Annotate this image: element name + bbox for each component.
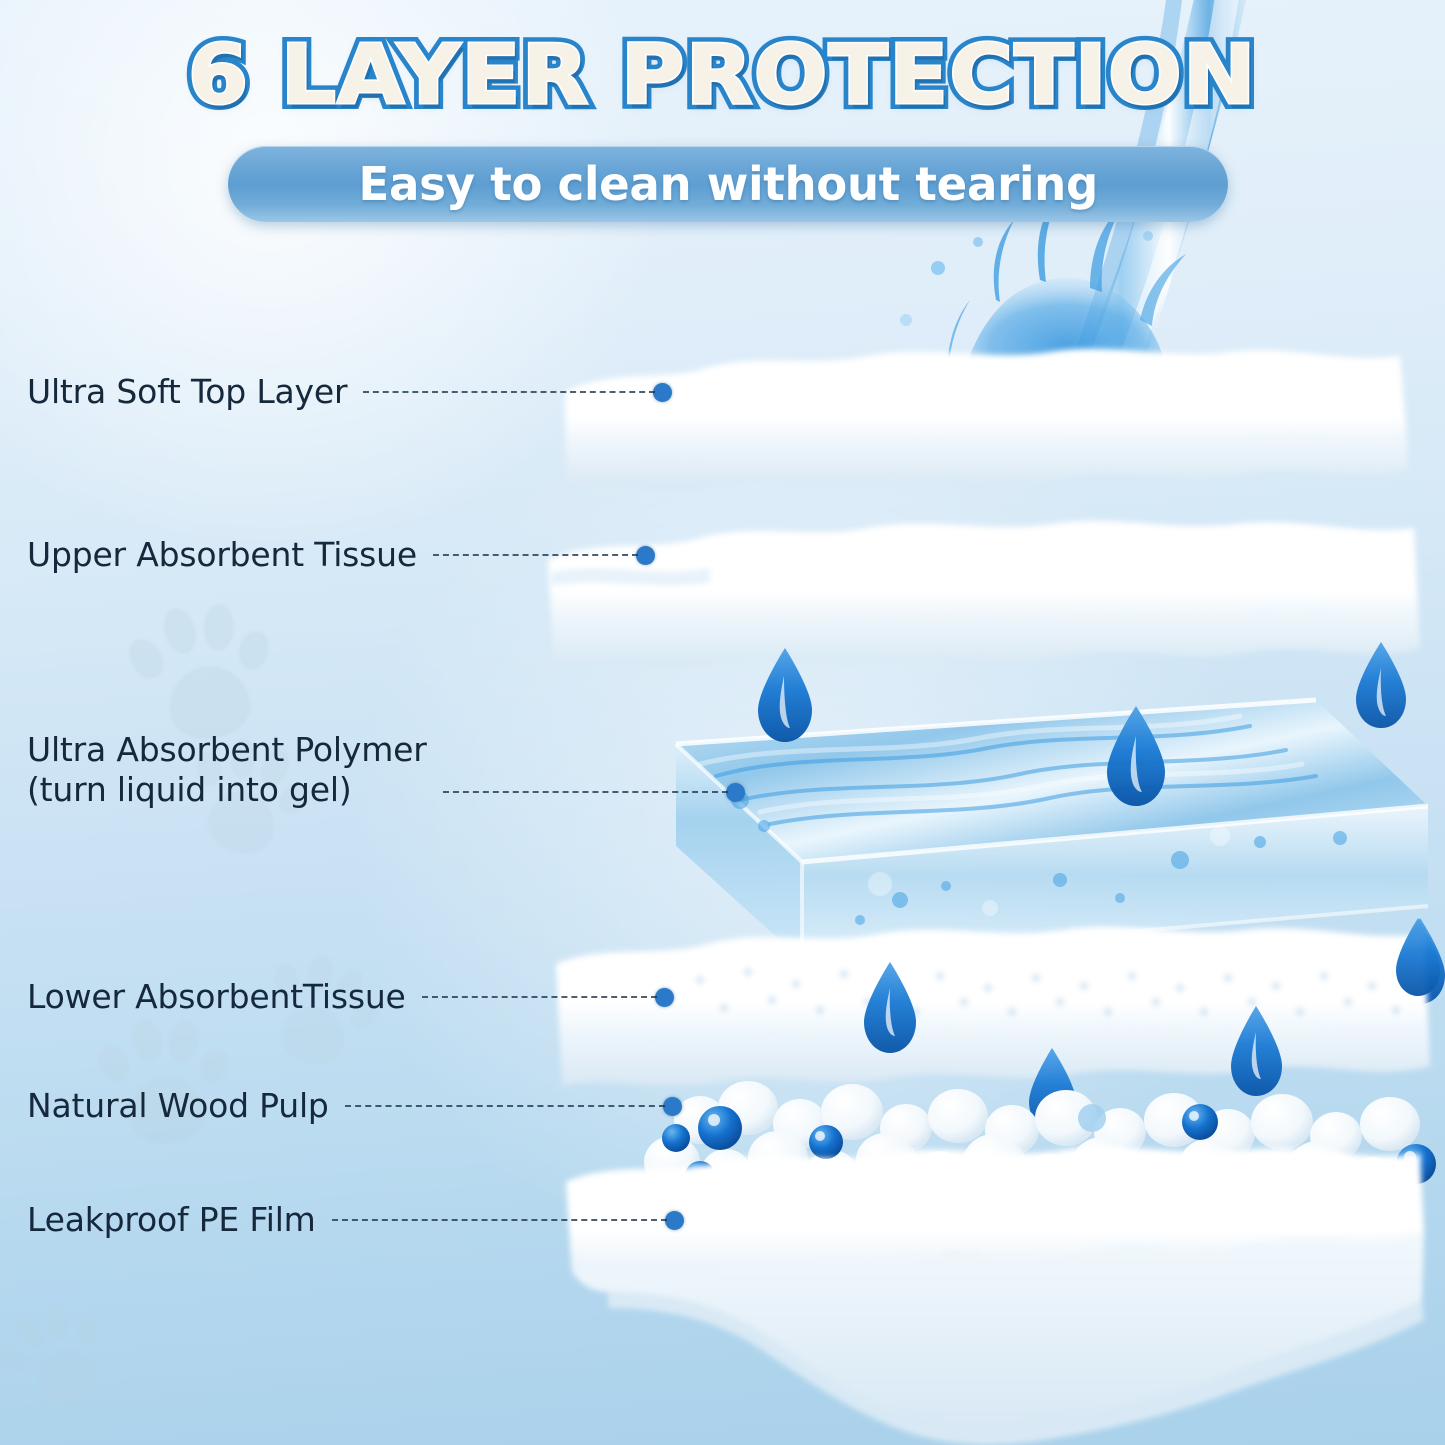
gel-bead xyxy=(1078,1104,1106,1132)
callout-label: Leakproof PE Film xyxy=(27,1200,316,1240)
leader-dot xyxy=(665,1211,684,1230)
leader-dot xyxy=(726,783,745,802)
gel-bead xyxy=(1396,1144,1436,1184)
layer-ultra-absorbent-polymer xyxy=(676,700,1428,960)
water-splash-icon xyxy=(900,192,1200,410)
callout-label: Natural Wood Pulp xyxy=(27,1086,329,1126)
leader-dot xyxy=(655,988,674,1007)
gel-bead xyxy=(698,1106,742,1150)
water-droplet-icon xyxy=(1231,1006,1282,1096)
water-droplet-icon xyxy=(1029,1048,1076,1130)
callout-label: Ultra Absorbent Polymer (turn liquid int… xyxy=(27,730,427,811)
callout-upper-absorbent-tissue: Upper Absorbent Tissue xyxy=(27,535,655,575)
water-droplet-icon xyxy=(1396,918,1440,996)
leader-line xyxy=(345,1105,665,1107)
leader-line xyxy=(363,391,655,393)
header-title-block: 6 LAYER PROTECTION 6 LAYER PROTECTION xyxy=(0,28,1445,123)
callout-leakproof-pe-film: Leakproof PE Film xyxy=(27,1200,684,1240)
water-droplet-icon xyxy=(1107,706,1165,806)
gel-bead xyxy=(776,1166,816,1206)
water-droplet-icon xyxy=(1356,642,1406,728)
gel-bead xyxy=(1236,1240,1268,1272)
callout-ultra-absorbent-polymer: Ultra Absorbent Polymer (turn liquid int… xyxy=(27,730,745,811)
water-droplet-icon xyxy=(758,648,812,742)
paw-print-watermark xyxy=(90,1005,239,1154)
subtitle-banner: Easy to clean without tearing xyxy=(228,146,1228,222)
gel-bead xyxy=(939,1223,981,1265)
layer-ultra-soft-top xyxy=(565,349,1408,490)
callout-natural-wood-pulp: Natural Wood Pulp xyxy=(27,1086,682,1126)
layer-leakproof-pe-film xyxy=(566,1147,1424,1445)
leader-line xyxy=(443,791,728,793)
gel-bead xyxy=(662,1124,690,1152)
paw-print-watermark xyxy=(0,1281,129,1428)
callout-ultra-soft-top-layer: Ultra Soft Top Layer xyxy=(27,372,672,412)
callout-lower-absorbent-tissue: Lower AbsorbentTissue xyxy=(27,977,674,1017)
subtitle-text: Easy to clean without tearing xyxy=(358,157,1097,211)
page-title: 6 LAYER PROTECTION xyxy=(188,28,1257,123)
layer-lower-absorbent-tissue xyxy=(556,927,1430,1086)
layer-upper-absorbent-tissue xyxy=(548,521,1420,668)
infographic-canvas: 6 LAYER PROTECTION 6 LAYER PROTECTION Ea… xyxy=(0,0,1445,1445)
leader-line xyxy=(433,554,638,556)
callout-label: Ultra Soft Top Layer xyxy=(27,372,347,412)
water-droplet-icon xyxy=(1396,918,1445,1004)
layer-natural-wood-pulp xyxy=(644,1081,1436,1304)
leader-dot xyxy=(663,1097,682,1116)
leader-line xyxy=(422,996,657,998)
callout-label: Lower AbsorbentTissue xyxy=(27,977,406,1017)
water-droplet-icon xyxy=(864,962,916,1053)
gel-bead xyxy=(1182,1104,1218,1140)
gel-bead xyxy=(685,1161,715,1191)
gel-bead xyxy=(809,1125,843,1159)
gel-bead xyxy=(1165,1249,1203,1287)
callout-label: Upper Absorbent Tissue xyxy=(27,535,417,575)
leader-dot xyxy=(653,383,672,402)
leader-dot xyxy=(636,546,655,565)
leader-line xyxy=(332,1219,667,1221)
